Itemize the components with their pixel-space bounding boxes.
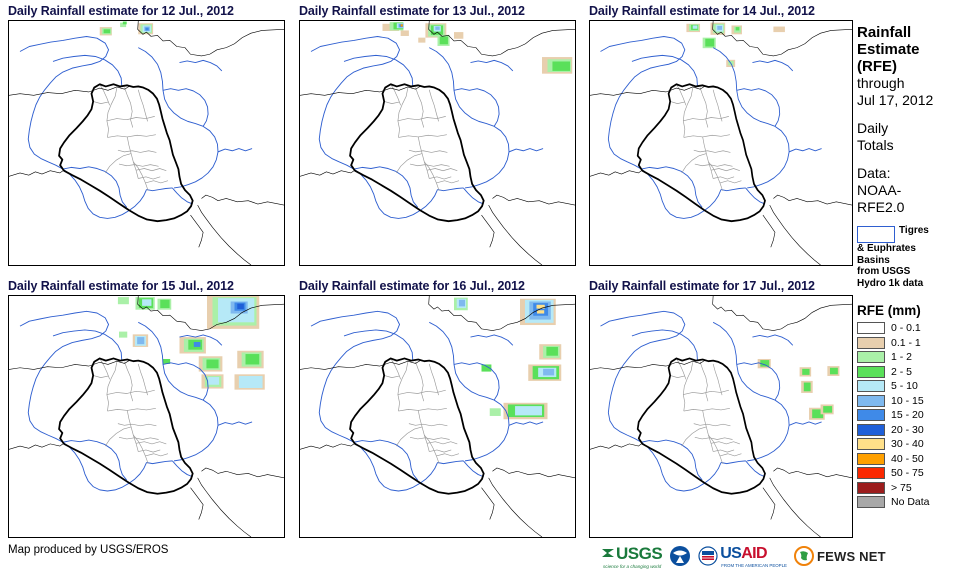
governorate-path [720, 454, 741, 456]
legend-swatch [857, 322, 885, 334]
legend-row: 40 - 50 [857, 452, 967, 467]
governorate-path [429, 450, 451, 452]
rainfall-cell [454, 32, 463, 39]
legend-label: 10 - 15 [891, 395, 924, 407]
basin-path [600, 37, 721, 219]
governorate-path [118, 150, 156, 152]
governorate-path [694, 150, 731, 152]
legend-label: 30 - 40 [891, 438, 924, 450]
rainfall-cell [440, 37, 448, 45]
panel-13-jul: Daily Rainfall estimate for 13 Jul., 201… [299, 4, 576, 266]
sidebar-data-line3: RFE2.0 [857, 199, 967, 216]
neighbour-border-path [713, 296, 852, 331]
neighbour-border-path [9, 444, 63, 449]
rainfall-cell [773, 27, 785, 33]
governorate-path [138, 450, 160, 452]
governorate-path [713, 177, 734, 179]
usgs-label: USGS [616, 544, 662, 564]
rfe-legend: 0 - 0.10.1 - 11 - 22 - 55 - 1010 - 1515 … [857, 321, 967, 510]
governorate-path [398, 408, 446, 411]
rainfall-cell [237, 304, 244, 309]
panel-16-jul: Daily Rainfall estimate for 16 Jul., 201… [299, 279, 576, 538]
basin-path [344, 330, 413, 360]
map-canvas [300, 21, 575, 265]
legend-row: 15 - 20 [857, 408, 967, 423]
legend-swatch [857, 380, 885, 392]
sidebar-through-date: Jul 17, 2012 [857, 92, 967, 109]
neighbour-border-path [191, 215, 204, 247]
rainfall-cell [194, 342, 201, 347]
usaid-label: USAID [720, 545, 767, 563]
neighbour-border-path [300, 171, 354, 177]
rainfall-cell [459, 300, 465, 307]
rainfall-cell [705, 39, 714, 47]
neighbour-border-path [300, 360, 421, 369]
governorate-path [107, 135, 155, 138]
basin-path [311, 37, 438, 219]
logo-bar: USGS science for a changing world USAID … [601, 541, 886, 571]
neighbour-border-path [770, 478, 821, 537]
legend-swatch [857, 438, 885, 450]
governorate-path [125, 362, 133, 401]
governorate-path [107, 362, 117, 411]
neighbour-border-path [482, 215, 495, 247]
basin-path [471, 60, 513, 71]
neighbour-borders [300, 21, 575, 265]
map-canvas [300, 296, 575, 537]
neighbour-border-path [9, 360, 130, 369]
rainfall-cell [522, 407, 539, 414]
neighbour-border-path [138, 21, 284, 56]
governorate-path [136, 169, 166, 171]
rainfall-cell [118, 297, 129, 304]
legend-swatch [857, 395, 885, 407]
rainfall-cell [552, 61, 570, 70]
rainfall-cell [206, 360, 218, 369]
noaa-logo [669, 545, 691, 567]
governorate-path [429, 90, 438, 122]
neighbour-border-path [590, 444, 641, 449]
governorate-path [119, 437, 159, 439]
governorate-path [700, 362, 708, 401]
legend-swatch [857, 409, 885, 421]
basin-legend-key: Tigres [857, 225, 967, 243]
map-frame-12-jul[interactable] [8, 20, 285, 266]
basin-path [721, 461, 746, 464]
legend-label: 1 - 2 [891, 351, 912, 363]
neighbour-border-path [590, 86, 705, 95]
legend-swatch [857, 366, 885, 378]
sidebar-totals-line1: Daily [857, 120, 967, 137]
governorate-path [695, 164, 733, 166]
governorate-path [93, 375, 108, 377]
governorate-path [145, 454, 168, 456]
rainfall-cell [208, 377, 219, 385]
governorate-path [683, 88, 692, 137]
basin-label-line1: Tigres [899, 225, 929, 237]
legend-label: 5 - 10 [891, 380, 918, 392]
rainfall-cell [546, 347, 558, 356]
basin-outlines [600, 311, 821, 491]
legend-label: 20 - 30 [891, 424, 924, 436]
panel-title: Daily Rainfall estimate for 15 Jul., 201… [8, 279, 285, 295]
rainfall-cell [830, 368, 838, 375]
map-frame-16-jul[interactable] [299, 295, 576, 538]
rainfall-cell [490, 408, 501, 416]
governorate-path [713, 450, 734, 452]
legend-label: 2 - 5 [891, 366, 912, 378]
panel-title: Daily Rainfall estimate for 12 Jul., 201… [8, 4, 285, 20]
neighbour-border-path [773, 468, 852, 478]
legend-swatch [857, 496, 885, 508]
panel-title: Daily Rainfall estimate for 14 Jul., 201… [589, 4, 853, 20]
governorate-path [93, 101, 108, 103]
rainfall-cells [383, 22, 573, 74]
neighbour-border-path [489, 478, 542, 537]
panel-14-jul: Daily Rainfall estimate for 14 Jul., 201… [589, 4, 853, 266]
governorate-path [713, 90, 722, 122]
basin-path [147, 461, 173, 464]
sidebar: Rainfall Estimate (RFE) through Jul 17, … [857, 0, 967, 576]
basin-label-line2: & Euphrates [857, 243, 967, 255]
neighbour-border-path [198, 478, 251, 537]
governorate-path [429, 177, 451, 179]
sidebar-totals-line2: Totals [857, 137, 967, 154]
rainfall-cell [736, 27, 740, 30]
basin-path [180, 60, 222, 71]
legend-swatch [857, 453, 885, 465]
governorate-path [127, 410, 138, 451]
legend-title: RFE (mm) [857, 303, 967, 318]
neighbour-border-path [300, 444, 354, 449]
governorate-path [670, 101, 685, 103]
basin-outlines [311, 311, 543, 491]
rainfall-cell [142, 299, 151, 306]
rainfall-cell [145, 28, 148, 31]
legend-label: No Data [891, 496, 930, 508]
neighbour-border-path [191, 488, 204, 520]
governorate-path [119, 164, 159, 166]
rainfall-cell [537, 305, 545, 309]
legend-row: 50 - 75 [857, 466, 967, 481]
sidebar-data-line2: NOAA- [857, 182, 967, 199]
neighbour-border-path [300, 86, 421, 95]
rainfall-cell [804, 383, 811, 392]
usgs-logo: USGS science for a changing world [601, 544, 662, 569]
rainfall-cell [123, 22, 127, 25]
rainfall-cells [454, 298, 561, 420]
rainfall-cell [693, 25, 698, 28]
governorate-path [118, 424, 156, 426]
map-frame-15-jul[interactable] [8, 295, 285, 538]
basin-path [721, 188, 746, 191]
governorate-path [410, 437, 450, 439]
legend-row: No Data [857, 495, 967, 510]
governorate-path [416, 362, 424, 401]
map-canvas [590, 21, 852, 265]
governorate-path [418, 137, 429, 179]
sidebar-heading-line1: Rainfall [857, 24, 967, 41]
neighbour-border-path [202, 195, 285, 205]
basin-outlines [600, 37, 821, 219]
governorate-path [684, 408, 730, 411]
basin-path [20, 311, 147, 491]
legend-row: 0.1 - 1 [857, 336, 967, 351]
legend-label: > 75 [891, 482, 912, 494]
rainfall-cell [823, 406, 832, 413]
governorate-path [398, 362, 408, 411]
legend-row: 2 - 5 [857, 365, 967, 380]
basin-outlines [311, 37, 543, 219]
neighbour-borders [590, 21, 852, 265]
legend-row: 10 - 15 [857, 394, 967, 409]
legend-label: 0.1 - 1 [891, 337, 921, 349]
legend-label: 40 - 50 [891, 453, 924, 465]
rainfall-cell [537, 310, 544, 313]
basin-path [20, 37, 147, 219]
neighbour-border-path [482, 488, 495, 520]
governorate-path [670, 375, 685, 377]
rainfall-cell [119, 332, 127, 338]
governorate-path [409, 424, 448, 426]
legend-row: 5 - 10 [857, 379, 967, 394]
rainfall-cell [243, 377, 260, 386]
basin-outlines [20, 37, 252, 219]
rainfall-cell [160, 300, 169, 308]
governorate-path [105, 427, 131, 446]
basin-path [438, 188, 464, 191]
legend-row: 0 - 0.1 [857, 321, 967, 336]
basin-path [438, 461, 464, 464]
governorate-path [703, 410, 713, 451]
basin-path [632, 55, 698, 86]
rainfall-cells [686, 23, 785, 67]
governorate-path [713, 364, 722, 395]
governorate-path [384, 101, 399, 103]
iraq-national-border [638, 84, 765, 221]
legend-label: 15 - 20 [891, 409, 924, 421]
legend-label: 0 - 0.1 [891, 322, 921, 334]
governorate-path [416, 88, 424, 128]
basin-path [53, 55, 122, 86]
legend-label: 50 - 75 [891, 467, 924, 479]
basin-path [471, 335, 513, 345]
rainfall-cell [104, 29, 111, 33]
rainfall-cell [401, 30, 409, 36]
governorate-path [125, 88, 133, 128]
basin-label-line5: Hydro 1k data [857, 278, 967, 290]
panel-15-jul: Daily Rainfall estimate for 15 Jul., 201… [8, 279, 285, 538]
governorate-path [682, 427, 707, 446]
governorate-path [683, 362, 692, 411]
panel-title: Daily Rainfall estimate for 16 Jul., 201… [299, 279, 576, 295]
usaid-tagline: FROM THE AMERICAN PEOPLE [721, 563, 787, 568]
basin-path [632, 330, 698, 360]
governorate-path [429, 364, 438, 395]
map-canvas [9, 296, 284, 537]
neighbour-border-path [763, 488, 775, 520]
neighbour-border-path [202, 468, 285, 478]
governorate-path [695, 437, 733, 439]
panel-17-jul: Daily Rainfall estimate for 17 Jul., 201… [589, 279, 853, 538]
neighbour-border-path [493, 195, 576, 205]
basin-path [509, 422, 543, 425]
basin-path [344, 55, 413, 86]
neighbour-border-path [489, 205, 542, 265]
neighbour-border-path [590, 171, 641, 177]
usaid-seal-icon [698, 546, 718, 566]
governorate-path [694, 424, 731, 426]
governorate-path [409, 150, 448, 152]
legend-row: 1 - 2 [857, 350, 967, 365]
map-canvas [590, 296, 852, 537]
map-canvas [9, 21, 284, 265]
usgs-tagline: science for a changing world [603, 564, 661, 569]
governorate-path [410, 164, 450, 166]
legend-row: > 75 [857, 481, 967, 496]
governorate-path [436, 454, 459, 456]
neighbour-border-path [198, 205, 251, 265]
iraq-national-border [59, 358, 193, 493]
panel-title: Daily Rainfall estimate for 17 Jul., 201… [589, 279, 853, 295]
basin-path [311, 311, 438, 491]
sidebar-heading-line3: (RFE) [857, 58, 967, 75]
governorate-path [107, 408, 155, 411]
sidebar-heading-line2: Estimate [857, 41, 967, 58]
rainfall-cell [137, 337, 144, 344]
neighbour-border-path [493, 468, 576, 478]
governorate-path [418, 410, 429, 451]
rainfall-cell [802, 369, 809, 375]
legend-swatch [857, 467, 885, 479]
sidebar-through: through [857, 75, 967, 92]
governorate-path [398, 88, 408, 137]
basin-path [752, 335, 792, 345]
basin-label-line3: Basins [857, 255, 967, 267]
rainfall-cell [401, 24, 403, 26]
basin-path [218, 149, 252, 152]
neighbour-border-path [773, 195, 852, 205]
iraq-national-border [350, 358, 484, 493]
legend-row: 20 - 30 [857, 423, 967, 438]
legend-swatch [857, 424, 885, 436]
noaa-seal-icon [669, 545, 691, 567]
governorate-path [436, 181, 459, 183]
rainfall-cell [246, 354, 260, 364]
governorate-path [107, 88, 117, 137]
governorate-path [711, 442, 740, 444]
governorate-path [398, 135, 446, 138]
basin-path [218, 422, 252, 425]
neighbour-border-path [429, 21, 575, 56]
iraq-national-border [59, 84, 193, 221]
rainfall-cell [717, 26, 722, 30]
neighbour-borders [9, 296, 284, 537]
governorate-path [700, 88, 708, 128]
usgs-mark-icon [601, 546, 615, 562]
governorate-path [384, 375, 399, 377]
governorate-path [682, 154, 707, 173]
governorate-path [684, 135, 730, 138]
rainfall-cells [100, 22, 153, 36]
rainfall-cell [435, 27, 439, 30]
iraq-national-border [350, 84, 484, 221]
governorate-path [711, 169, 740, 171]
usaid-logo: USAID FROM THE AMERICAN PEOPLE [698, 545, 787, 568]
governorate-path [138, 177, 160, 179]
governorate-path [136, 442, 166, 444]
governorate-path [105, 154, 131, 173]
governorate-path [427, 442, 457, 444]
governorate-path [396, 154, 422, 173]
map-frame-13-jul[interactable] [299, 20, 576, 266]
neighbour-borders [9, 21, 284, 265]
governorate-path [138, 90, 147, 122]
panel-12-jul: Daily Rainfall estimate for 12 Jul., 201… [8, 4, 285, 266]
map-frame-14-jul[interactable] [589, 20, 853, 266]
neighbour-border-path [770, 205, 821, 265]
fewsnet-label: FEWS NET [817, 549, 886, 564]
neighbour-border-path [763, 215, 775, 247]
basin-path [789, 422, 821, 425]
map-frame-17-jul[interactable] [589, 295, 853, 538]
governorate-path [127, 137, 138, 179]
rainfall-cell [543, 369, 554, 376]
basin-path [789, 149, 821, 152]
iraq-national-border [638, 358, 765, 493]
legend-row: 30 - 40 [857, 437, 967, 452]
neighbour-border-path [590, 360, 705, 369]
governorate-path [720, 181, 741, 183]
panel-title: Daily Rainfall estimate for 13 Jul., 201… [299, 4, 576, 20]
basin-label-line4: from USGS [857, 266, 967, 278]
fewsnet-logo: FEWS NET [794, 546, 886, 566]
neighbour-border-path [9, 171, 63, 177]
legend-swatch [857, 351, 885, 363]
rainfall-cells [118, 296, 265, 390]
basin-path [509, 149, 543, 152]
fewsnet-globe-icon [794, 546, 814, 566]
governorate-path [703, 137, 713, 179]
basin-path [147, 188, 173, 191]
governorate-path [145, 181, 168, 183]
governorate-path [427, 169, 457, 171]
basin-path [53, 330, 122, 360]
rainfall-cell [418, 38, 425, 43]
map-credit: Map produced by USGS/EROS [8, 544, 168, 556]
legend-swatch [857, 482, 885, 494]
basin-path [600, 311, 721, 491]
basin-path [752, 60, 792, 71]
sidebar-data-line1: Data: [857, 165, 967, 182]
legend-swatch [857, 337, 885, 349]
governorate-path [138, 364, 147, 395]
basin-swatch [857, 226, 895, 243]
neighbour-border-path [9, 86, 130, 95]
governorate-path [396, 427, 422, 446]
